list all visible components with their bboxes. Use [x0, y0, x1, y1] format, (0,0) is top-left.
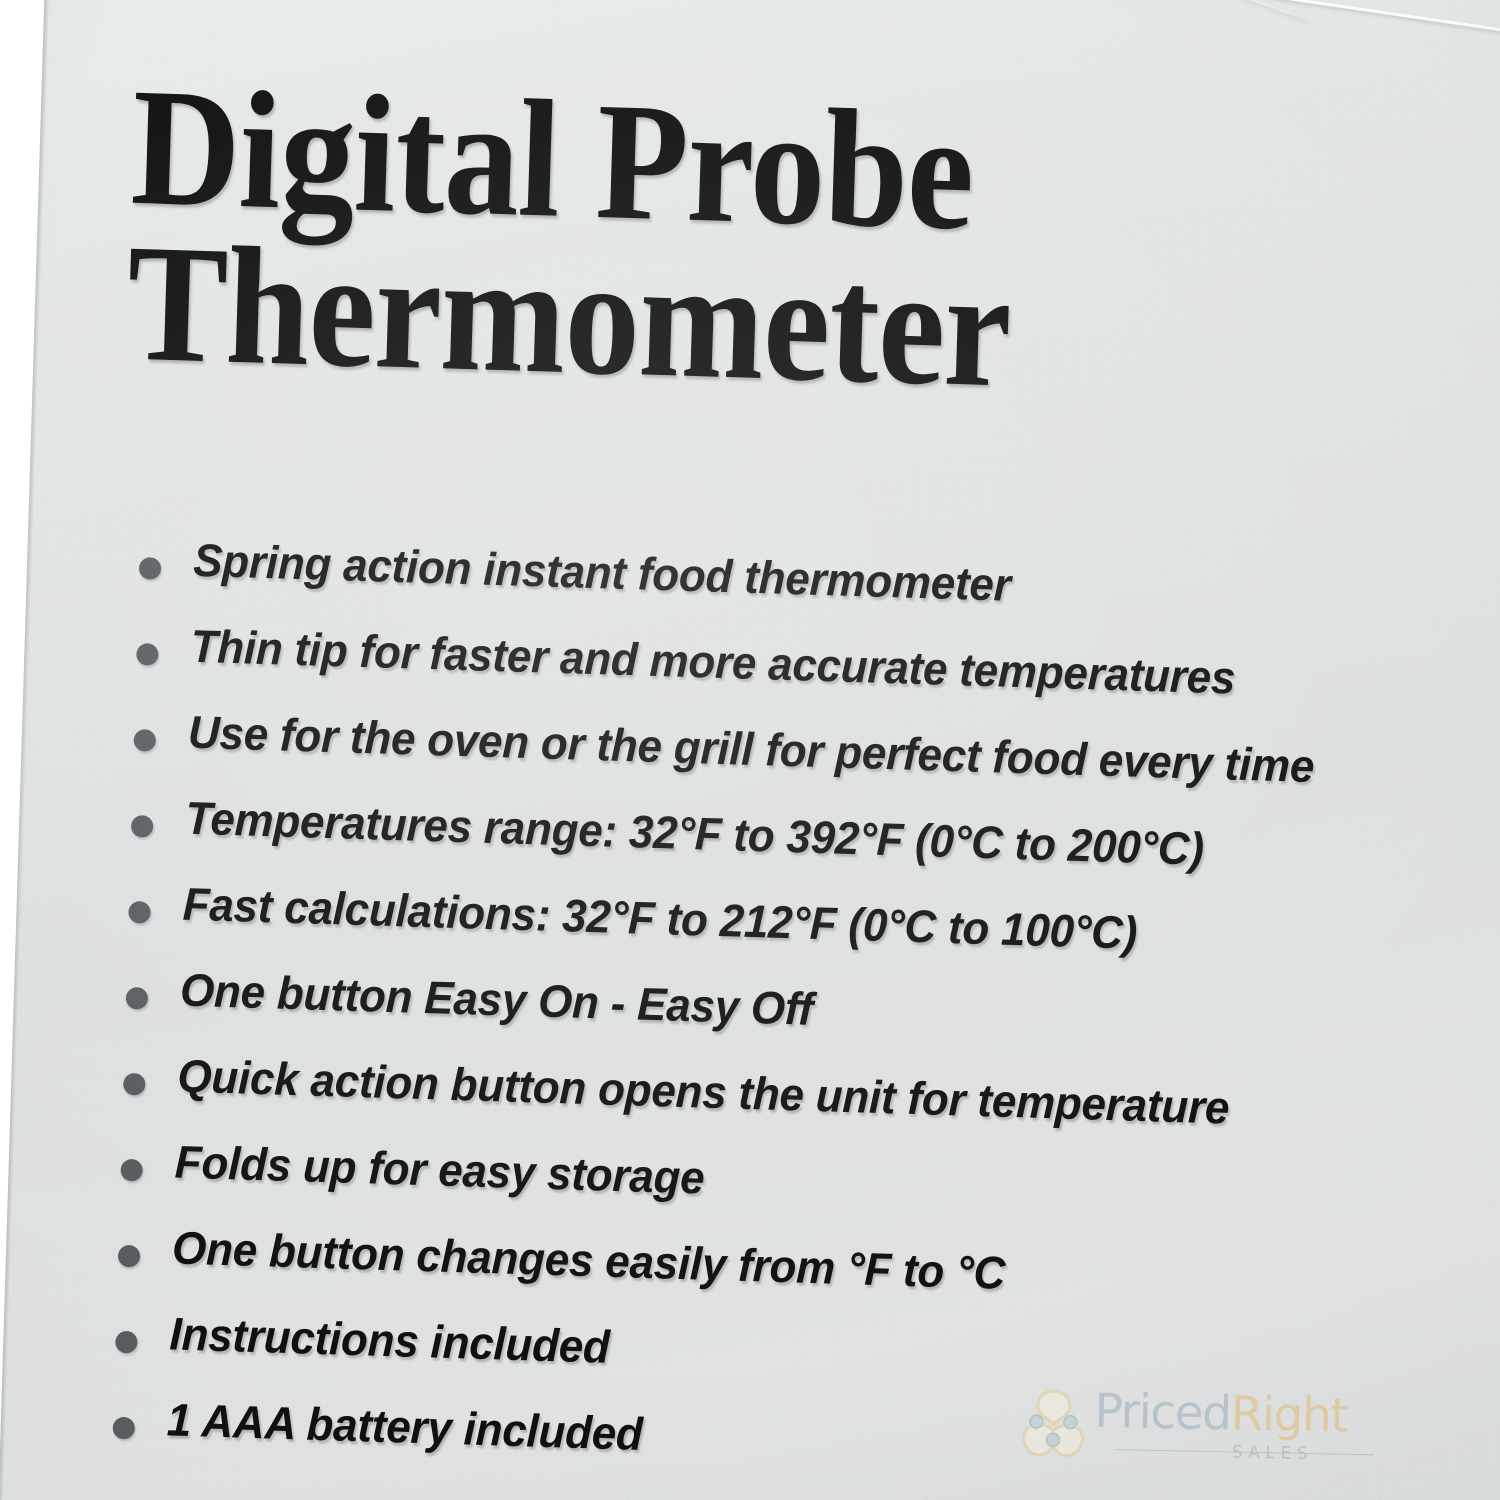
page-title: Digital Probe Thermometer	[125, 69, 1394, 420]
bullet-dot-icon	[139, 557, 162, 580]
title-line-2: Thermometer	[125, 225, 1257, 416]
packaging-printed-content: Digital Probe Thermometer Spring action …	[0, 0, 1500, 1500]
trefoil-logo-icon	[1016, 1384, 1091, 1459]
bullet-dot-icon	[120, 1159, 143, 1182]
watermark-brand: PricedRight	[1094, 1384, 1348, 1444]
bullet-dot-icon	[118, 1245, 141, 1268]
watermark-brand-part-1: Priced	[1094, 1384, 1231, 1442]
watermark-tagline: SALES	[1228, 1442, 1318, 1464]
feature-list: Spring action instant food thermometer T…	[111, 531, 1500, 1500]
watermark: PricedRight SALES	[1015, 1376, 1377, 1475]
bullet-dot-icon	[112, 1417, 135, 1440]
feature-text: Spring action instant food thermometer	[192, 533, 1011, 612]
bullet-dot-icon	[133, 729, 156, 752]
bullet-dot-icon	[115, 1331, 138, 1354]
bullet-dot-icon	[131, 815, 154, 838]
product-packaging-photo: Digital Probe Thermometer Spring action …	[0, 0, 1500, 1500]
watermark-brand-part-2: Right	[1230, 1386, 1348, 1443]
watermark-tagline-wrap: SALES	[1116, 1440, 1374, 1465]
bullet-dot-icon	[128, 901, 151, 924]
bullet-dot-icon	[126, 987, 149, 1010]
bullet-dot-icon	[123, 1073, 146, 1096]
bullet-dot-icon	[136, 643, 159, 666]
